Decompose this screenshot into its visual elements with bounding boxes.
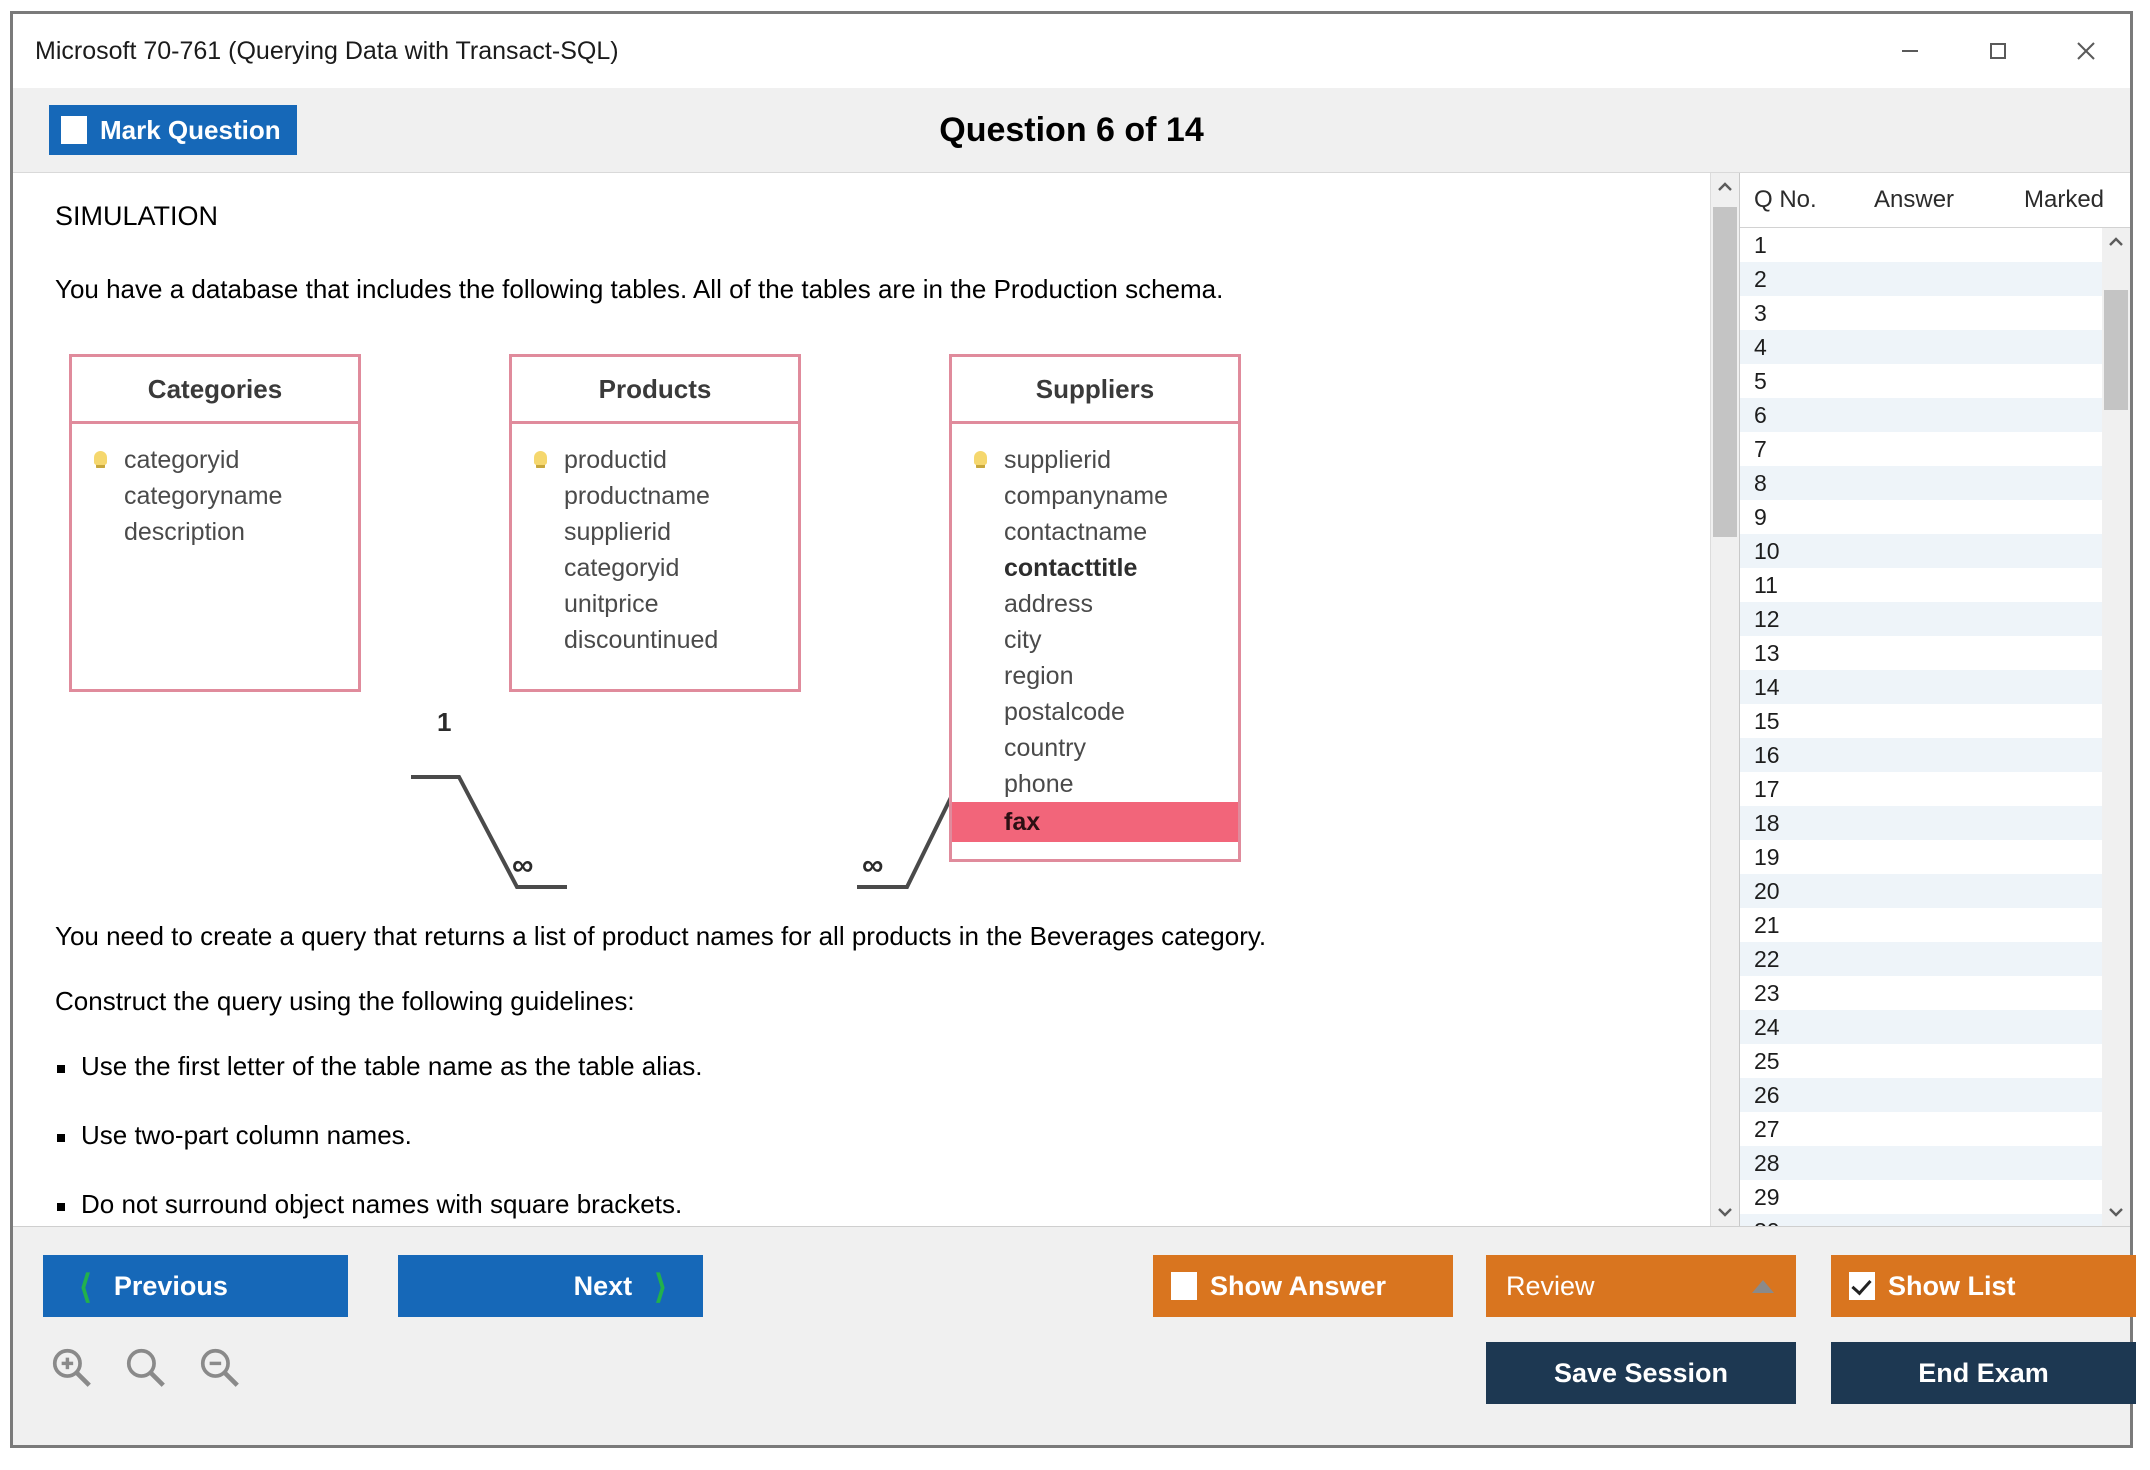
zoom-out-icon[interactable]: [197, 1345, 243, 1391]
body-row: SIMULATION You have a database that incl…: [13, 173, 2130, 1226]
question-list-scrollbar[interactable]: [2102, 228, 2130, 1226]
row-question-number: 18: [1740, 810, 1860, 837]
row-question-number: 12: [1740, 606, 1860, 633]
show-answer-checkbox[interactable]: [1171, 1272, 1197, 1300]
review-label: Review: [1506, 1271, 1595, 1302]
review-dropdown-button[interactable]: Review: [1486, 1255, 1796, 1317]
maximize-button[interactable]: [1954, 14, 2042, 88]
next-button[interactable]: Next ⟩: [398, 1255, 703, 1317]
title-bar: Microsoft 70-761 (Querying Data with Tra…: [13, 14, 2130, 88]
header-bar: Mark Question Question 6 of 14: [13, 88, 2130, 173]
end-exam-button[interactable]: End Exam: [1831, 1342, 2136, 1404]
question-list-row[interactable]: 24: [1740, 1010, 2102, 1044]
row-question-number: 14: [1740, 674, 1860, 701]
question-list-row[interactable]: 23: [1740, 976, 2102, 1010]
table-suppliers-title: Suppliers: [952, 357, 1238, 424]
row-question-number: 30: [1740, 1218, 1860, 1227]
show-list-button[interactable]: Show List: [1831, 1255, 2136, 1317]
field-region: region: [952, 658, 1238, 694]
window-controls: [1866, 14, 2130, 88]
minimize-button[interactable]: [1866, 14, 1954, 88]
guideline-item: Use two-part column names.: [55, 1120, 1670, 1151]
save-session-label: Save Session: [1554, 1358, 1728, 1389]
field-categoryid: categoryid: [72, 442, 358, 478]
table-categories-title: Categories: [72, 357, 358, 424]
show-list-checkbox[interactable]: [1849, 1272, 1875, 1300]
row-question-number: 19: [1740, 844, 1860, 871]
row-question-number: 9: [1740, 504, 1860, 531]
question-list-row[interactable]: 8: [1740, 466, 2102, 500]
list-scroll-track[interactable]: [2102, 256, 2130, 1198]
question-list-row[interactable]: 19: [1740, 840, 2102, 874]
row-question-number: 25: [1740, 1048, 1860, 1075]
field-categoryid-products: categoryid: [512, 550, 798, 586]
field-fax: fax: [952, 802, 1238, 842]
question-list-rows: 1234567891011121314151617181920212223242…: [1740, 228, 2102, 1226]
guideline-item: Use the first letter of the table name a…: [55, 1051, 1670, 1082]
column-header-answer: Answer: [1874, 186, 2024, 214]
relationship-2-from-cardinality: ∞: [862, 849, 883, 883]
row-question-number: 4: [1740, 334, 1860, 361]
field-city: city: [952, 622, 1238, 658]
row-question-number: 22: [1740, 946, 1860, 973]
chevron-down-icon: [2108, 1206, 2124, 1218]
zoom-controls: [49, 1345, 243, 1391]
question-list-row[interactable]: 7: [1740, 432, 2102, 466]
row-question-number: 29: [1740, 1184, 1860, 1211]
relationship-connector-categories-products: [399, 739, 589, 939]
chevron-up-icon: [1717, 181, 1733, 193]
simulation-label: SIMULATION: [55, 201, 1670, 232]
field-productid: productid: [512, 442, 798, 478]
question-list-row[interactable]: 16: [1740, 738, 2102, 772]
table-products: Products productid productname supplieri…: [509, 354, 801, 692]
field-country: country: [952, 730, 1238, 766]
question-list-row[interactable]: 2: [1740, 262, 2102, 296]
zoom-in-icon[interactable]: [49, 1345, 95, 1391]
scroll-thumb[interactable]: [1713, 207, 1737, 537]
row-question-number: 13: [1740, 640, 1860, 667]
field-supplierid: supplierid: [512, 514, 798, 550]
row-question-number: 2: [1740, 266, 1860, 293]
close-icon: [2069, 34, 2103, 68]
app-window-root: Microsoft 70-761 (Querying Data with Tra…: [0, 0, 2150, 1470]
question-list-row[interactable]: 21: [1740, 908, 2102, 942]
row-question-number: 24: [1740, 1014, 1860, 1041]
scroll-down-arrow[interactable]: [1711, 1198, 1739, 1226]
table-suppliers: Suppliers supplierid companyname contact…: [949, 354, 1241, 862]
field-phone: phone: [952, 766, 1238, 802]
question-list-row[interactable]: 26: [1740, 1078, 2102, 1112]
field-unitprice: unitprice: [512, 586, 798, 622]
row-question-number: 15: [1740, 708, 1860, 735]
previous-button-label: Previous: [114, 1271, 228, 1302]
question-list-row[interactable]: 5: [1740, 364, 2102, 398]
maximize-icon: [1983, 36, 2013, 66]
question-pane: SIMULATION You have a database that incl…: [13, 173, 1710, 1226]
chevron-left-icon: ⟨: [79, 1270, 92, 1303]
question-list-row[interactable]: 30: [1740, 1214, 2102, 1226]
list-scroll-down-arrow[interactable]: [2102, 1198, 2130, 1226]
question-list-row[interactable]: 10: [1740, 534, 2102, 568]
list-scroll-up-arrow[interactable]: [2102, 228, 2130, 256]
question-list-row[interactable]: 12: [1740, 602, 2102, 636]
scroll-up-arrow[interactable]: [1711, 173, 1739, 201]
question-list-row[interactable]: 25: [1740, 1044, 2102, 1078]
question-list-row[interactable]: 28: [1740, 1146, 2102, 1180]
guidelines-list: Use the first letter of the table name a…: [55, 1051, 1670, 1226]
question-list-row[interactable]: 27: [1740, 1112, 2102, 1146]
field-discountinued: discountinued: [512, 622, 798, 658]
mark-question-checkbox[interactable]: [61, 116, 87, 144]
question-pane-scrollbar[interactable]: [1710, 173, 1739, 1226]
intro-paragraph: You have a database that includes the fo…: [55, 274, 1670, 305]
row-question-number: 26: [1740, 1082, 1860, 1109]
column-header-qno: Q No.: [1740, 186, 1874, 214]
question-content: SIMULATION You have a database that incl…: [13, 173, 1710, 1226]
question-list-panel: Q No. Answer Marked 12345678910111213141…: [1739, 173, 2130, 1226]
field-contacttitle: contacttitle: [952, 550, 1238, 586]
field-postalcode: postalcode: [952, 694, 1238, 730]
minimize-icon: [1895, 36, 1925, 66]
question-list-row[interactable]: 29: [1740, 1180, 2102, 1214]
field-contactname: contactname: [952, 514, 1238, 550]
question-list-row[interactable]: 13: [1740, 636, 2102, 670]
mark-question-label: Mark Question: [100, 115, 281, 146]
question-list-row[interactable]: 11: [1740, 568, 2102, 602]
question-list-row[interactable]: 17: [1740, 772, 2102, 806]
row-question-number: 10: [1740, 538, 1860, 565]
row-question-number: 23: [1740, 980, 1860, 1007]
question-list-row[interactable]: 6: [1740, 398, 2102, 432]
show-answer-button[interactable]: Show Answer: [1153, 1255, 1453, 1317]
close-button[interactable]: [2042, 14, 2130, 88]
relationship-1-to-cardinality: ∞: [512, 849, 533, 883]
field-productname: productname: [512, 478, 798, 514]
row-question-number: 16: [1740, 742, 1860, 769]
question-list-scroll-area: 1234567891011121314151617181920212223242…: [1740, 228, 2130, 1226]
previous-button[interactable]: ⟨ Previous: [43, 1255, 348, 1317]
relationship-1-from-cardinality: 1: [437, 707, 451, 738]
row-question-number: 6: [1740, 402, 1860, 429]
row-question-number: 11: [1740, 572, 1860, 599]
er-diagram: 1 ∞ ∞ 1 Categories categoryid: [69, 339, 1329, 899]
question-list-row[interactable]: 15: [1740, 704, 2102, 738]
question-list-row[interactable]: 14: [1740, 670, 2102, 704]
list-scroll-thumb[interactable]: [2104, 290, 2128, 410]
zoom-reset-icon[interactable]: [123, 1345, 169, 1391]
row-question-number: 1: [1740, 232, 1860, 259]
triangle-up-icon: [1752, 1280, 1774, 1293]
row-question-number: 28: [1740, 1150, 1860, 1177]
table-products-fields: productid productname supplierid categor…: [512, 424, 798, 668]
question-list-row[interactable]: 20: [1740, 874, 2102, 908]
scroll-track[interactable]: [1711, 201, 1739, 1198]
row-question-number: 3: [1740, 300, 1860, 327]
row-question-number: 7: [1740, 436, 1860, 463]
page-title: Question 6 of 14: [13, 111, 2130, 150]
question-list-row[interactable]: 1: [1740, 228, 2102, 262]
field-companyname: companyname: [952, 478, 1238, 514]
table-categories: Categories categoryid categoryname descr…: [69, 354, 361, 692]
footer-bar: ⟨ Previous Next ⟩ Show Answer Review Sho…: [13, 1226, 2130, 1445]
table-products-title: Products: [512, 357, 798, 424]
mark-question-button[interactable]: Mark Question: [49, 105, 297, 155]
chevron-right-icon: ⟩: [654, 1270, 667, 1303]
row-question-number: 17: [1740, 776, 1860, 803]
question-list-row[interactable]: 22: [1740, 942, 2102, 976]
table-suppliers-fields: supplierid companyname contactname conta…: [952, 424, 1238, 852]
question-list-row[interactable]: 3: [1740, 296, 2102, 330]
end-exam-label: End Exam: [1918, 1358, 2049, 1389]
show-list-label: Show List: [1888, 1271, 2016, 1302]
save-session-button[interactable]: Save Session: [1486, 1342, 1796, 1404]
next-button-label: Next: [574, 1271, 633, 1302]
field-categoryname: categoryname: [72, 478, 358, 514]
question-list-header: Q No. Answer Marked: [1740, 173, 2130, 228]
table-categories-fields: categoryid categoryname description: [72, 424, 358, 560]
row-question-number: 27: [1740, 1116, 1860, 1143]
field-description: description: [72, 514, 358, 550]
chevron-down-icon: [1717, 1206, 1733, 1218]
column-header-marked: Marked: [2024, 186, 2130, 214]
row-question-number: 8: [1740, 470, 1860, 497]
question-list-row[interactable]: 18: [1740, 806, 2102, 840]
question-list-row[interactable]: 9: [1740, 500, 2102, 534]
show-answer-label: Show Answer: [1210, 1271, 1386, 1302]
row-question-number: 20: [1740, 878, 1860, 905]
guideline-item: Do not surround object names with square…: [55, 1189, 1670, 1220]
row-question-number: 21: [1740, 912, 1860, 939]
field-address: address: [952, 586, 1238, 622]
guidelines-intro: Construct the query using the following …: [55, 986, 1670, 1017]
window-title: Microsoft 70-761 (Querying Data with Tra…: [35, 37, 619, 66]
chevron-up-icon: [2108, 236, 2124, 248]
question-list-row[interactable]: 4: [1740, 330, 2102, 364]
exam-window: Microsoft 70-761 (Querying Data with Tra…: [10, 11, 2133, 1448]
field-supplierid-suppliers: supplierid: [952, 442, 1238, 478]
row-question-number: 5: [1740, 368, 1860, 395]
